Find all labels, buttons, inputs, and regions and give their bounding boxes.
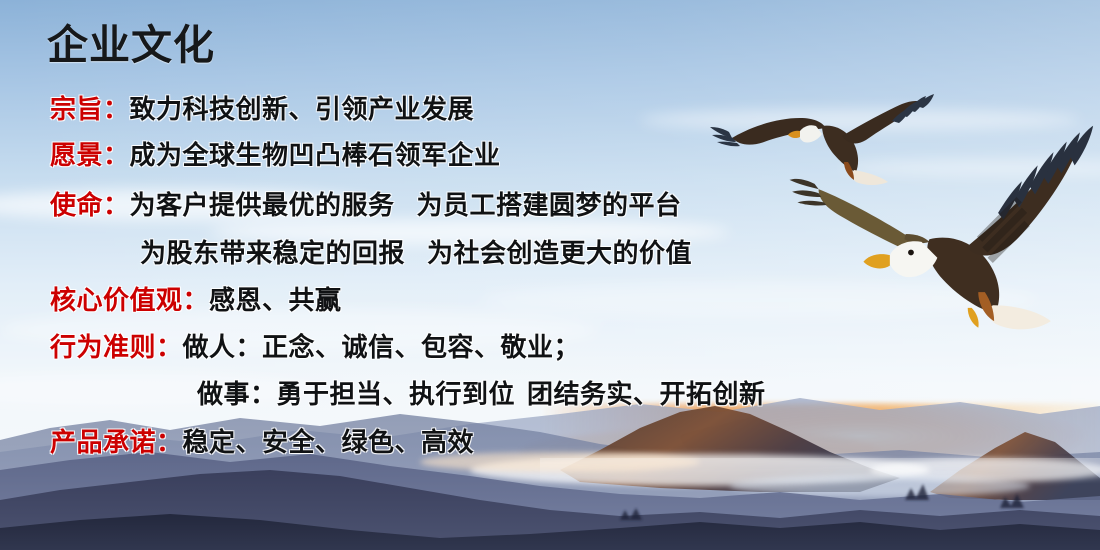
entry-core-values-label: 核心价值观： bbox=[50, 285, 209, 315]
enterprise-culture-slide: 企业文化 宗旨：致力科技创新、引领产业发展 愿景：成为全球生物凹凸棒石领军企业 … bbox=[0, 0, 1100, 550]
entry-vision: 愿景：成为全球生物凹凸棒石领军企业 bbox=[50, 140, 501, 170]
entry-mission: 使命：为客户提供最优的服务为员工搭建圆梦的平台 bbox=[50, 190, 682, 220]
entry-code-of-conduct-body: 做人：正念、诚信、包容、敬业； bbox=[183, 332, 581, 362]
entry-mission-body2: 为员工搭建圆梦的平台 bbox=[417, 190, 682, 220]
entry-vision-label: 愿景： bbox=[50, 140, 130, 170]
entry-purpose: 宗旨：致力科技创新、引领产业发展 bbox=[50, 94, 474, 124]
entry-code-of-conduct-label: 行为准则： bbox=[50, 332, 183, 362]
entry-purpose-label: 宗旨： bbox=[50, 94, 130, 124]
entry-core-values: 核心价值观：感恩、共赢 bbox=[50, 285, 342, 315]
entry-code-of-conduct-continuation2-text: 团结务实、开拓创新 bbox=[527, 379, 766, 409]
entry-product-promise-label: 产品承诺： bbox=[50, 427, 183, 457]
entry-purpose-body: 致力科技创新、引领产业发展 bbox=[130, 94, 475, 124]
entry-vision-body: 成为全球生物凹凸棒石领军企业 bbox=[130, 140, 501, 170]
page-title: 企业文化 bbox=[47, 22, 215, 68]
entry-product-promise-body: 稳定、安全、绿色、高效 bbox=[183, 427, 475, 457]
entry-mission-continuation: 为股东带来稳定的回报为社会创造更大的价值 bbox=[140, 238, 692, 268]
entry-mission-continuation-text: 为股东带来稳定的回报 bbox=[140, 238, 405, 268]
entry-mission-body: 为客户提供最优的服务 bbox=[130, 190, 395, 220]
entry-mission-continuation2-text: 为社会创造更大的价值 bbox=[427, 238, 692, 268]
entry-code-of-conduct-continuation-text: 做事：勇于担当、执行到位 bbox=[197, 379, 515, 409]
entry-product-promise: 产品承诺：稳定、安全、绿色、高效 bbox=[50, 427, 474, 457]
entry-code-of-conduct-continuation: 做事：勇于担当、执行到位团结务实、开拓创新 bbox=[197, 379, 766, 409]
entry-core-values-body: 感恩、共赢 bbox=[209, 285, 342, 315]
content-layer: 企业文化 宗旨：致力科技创新、引领产业发展 愿景：成为全球生物凹凸棒石领军企业 … bbox=[0, 0, 1100, 550]
entry-mission-label: 使命： bbox=[50, 190, 130, 220]
entry-code-of-conduct: 行为准则：做人：正念、诚信、包容、敬业； bbox=[50, 332, 580, 362]
